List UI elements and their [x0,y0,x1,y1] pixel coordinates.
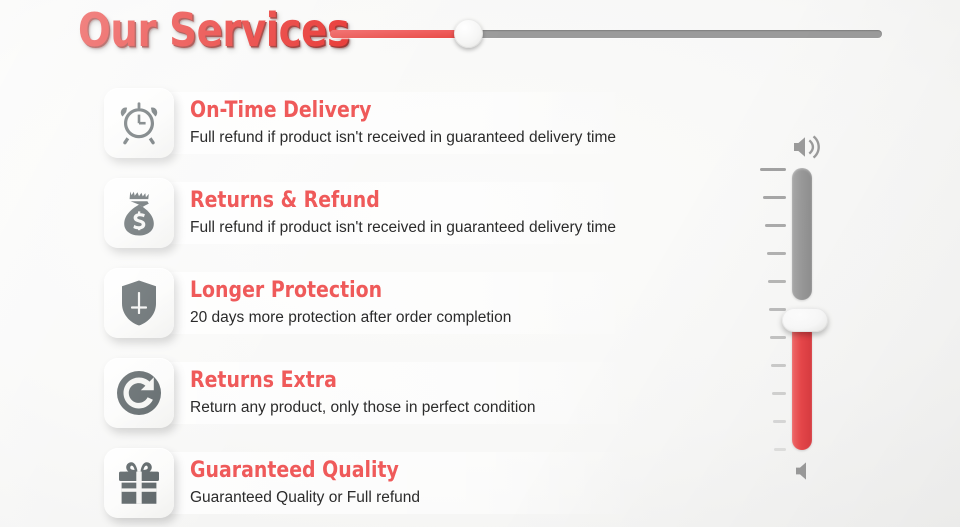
tick-mark [763,196,786,199]
page-title: Our Services [78,4,349,56]
volume-slider[interactable] [750,128,850,498]
volume-slider-track-upper [792,168,812,300]
volume-slider-knob[interactable] [782,308,828,332]
gift-box-icon [104,448,174,518]
list-item-desc: Return any product, only those in perfec… [190,398,536,417]
alarm-clock-icon [104,88,174,158]
volume-slider-fill [792,323,812,450]
list-item[interactable]: Returns Extra Return any product, only t… [0,348,740,438]
volume-up-icon[interactable] [792,134,822,165]
tick-mark [773,420,786,423]
list-item-desc: Full refund if product isn't received in… [190,128,616,147]
volume-tick-marks [750,168,786,458]
tick-mark [770,336,786,339]
list-item-title: Longer Protection [190,279,466,303]
volume-mute-icon[interactable] [794,460,814,487]
tick-mark [768,280,786,283]
money-bag-icon [104,178,174,248]
list-item-title: Returns & Refund [190,189,556,213]
list-item-text: Longer Protection 20 days more protectio… [190,279,511,327]
list-item-desc: 20 days more protection after order comp… [190,308,511,327]
list-item[interactable]: Longer Protection 20 days more protectio… [0,258,740,348]
progress-slider[interactable] [330,26,882,42]
refresh-circle-icon [104,358,174,428]
list-item-text: Guaranteed Quality Guaranteed Quality or… [190,459,433,507]
list-item-text: On-Time Delivery Full refund if product … [190,99,616,147]
tick-mark [774,448,786,451]
tick-mark [772,392,786,395]
list-item-title: On-Time Delivery [190,99,556,123]
list-item-text: Returns Extra Return any product, only t… [190,369,536,417]
tick-mark [771,364,786,367]
services-list: On-Time Delivery Full refund if product … [0,78,740,527]
list-item[interactable]: On-Time Delivery Full refund if product … [0,78,740,168]
tick-mark [767,252,786,255]
list-item-title: Guaranteed Quality [190,459,399,483]
list-item-desc: Full refund if product isn't received in… [190,218,616,237]
services-panel: Our Services [0,0,960,527]
tick-mark [765,224,786,227]
list-item[interactable]: Guaranteed Quality Guaranteed Quality or… [0,438,740,527]
tick-mark [760,168,786,171]
tick-mark [769,308,786,311]
shield-icon [104,268,174,338]
progress-slider-knob[interactable] [454,19,483,48]
list-item-text: Returns & Refund Full refund if product … [190,189,616,237]
volume-slider-track[interactable] [792,168,812,450]
list-item[interactable]: Returns & Refund Full refund if product … [0,168,740,258]
progress-slider-fill [330,30,465,38]
list-item-title: Returns Extra [190,369,487,393]
list-item-desc: Guaranteed Quality or Full refund [190,488,433,507]
